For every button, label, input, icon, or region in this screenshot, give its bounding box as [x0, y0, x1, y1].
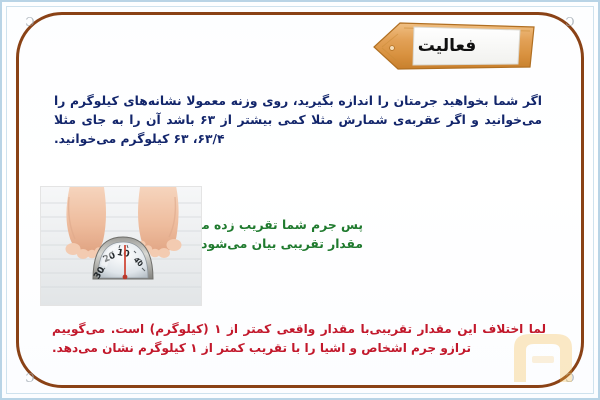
feet-on-bathroom-scale-image: 30 20 10 40: [41, 187, 201, 305]
activity-banner: فعالیت: [368, 20, 536, 72]
corner-ornament-bottom-right: Ɔ: [563, 371, 577, 385]
corner-ornament-top-left: Ɔ: [23, 15, 37, 29]
scale-photo: 30 20 10 40: [40, 186, 202, 306]
corner-ornament-bottom-left: Ɔ: [23, 371, 37, 385]
corner-ornament-top-right: Ɔ: [563, 15, 577, 29]
slide-canvas: Ɔ Ɔ Ɔ Ɔ: [0, 0, 600, 400]
paragraph-error-bound: لما اختلاف این مقدار تقریبی‌با مقدار واق…: [52, 320, 546, 357]
paragraph-measuring-mass: اگر شما بخواهید جرمتان را اندازه بگیرید،…: [54, 92, 542, 149]
wooden-sign-icon: [368, 20, 536, 72]
